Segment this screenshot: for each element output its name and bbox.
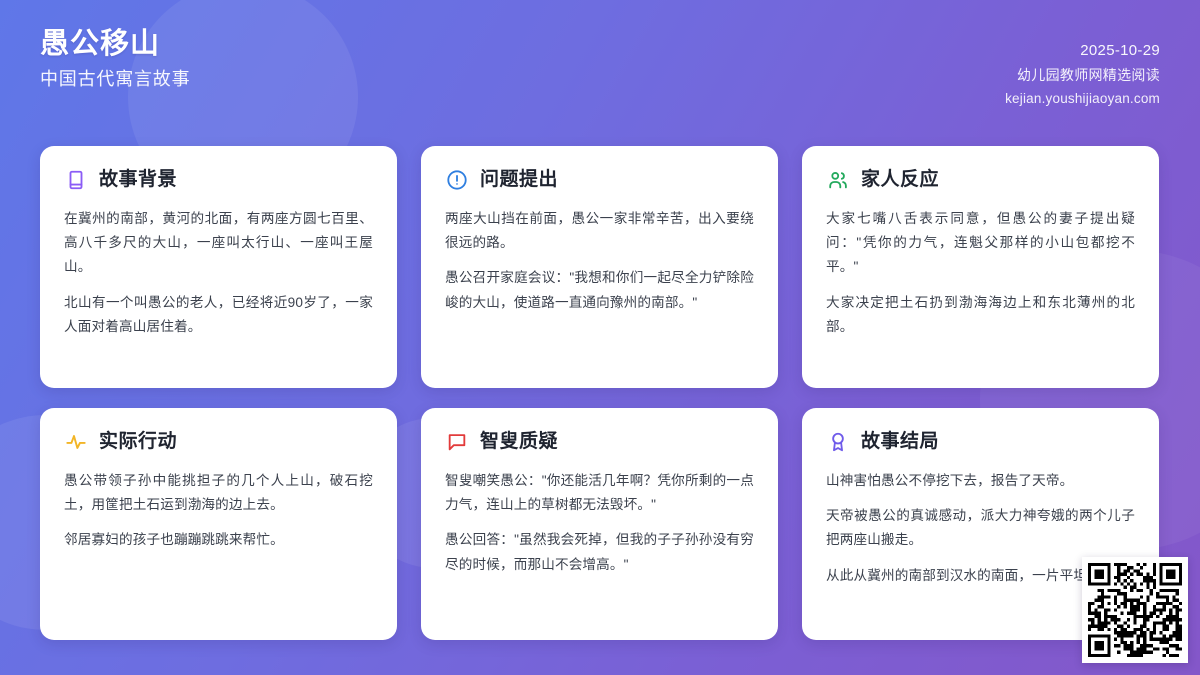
award-icon (826, 430, 850, 454)
card-paragraph: 愚公带领子孙中能挑担子的几个人上山，破石挖土，用筐把土石运到渤海的边上去。 (64, 469, 373, 517)
card-body: 大家七嘴八舌表示同意，但愚公的妻子提出疑问："凭你的力气，连魁父那样的小山包都挖… (826, 207, 1135, 339)
alert-circle-icon (445, 168, 469, 192)
card-header: 故事结局 (826, 430, 1135, 454)
card-title: 问题提出 (480, 169, 558, 192)
card-title: 故事背景 (99, 169, 177, 192)
card-title: 故事结局 (861, 431, 939, 454)
card-paragraph: 两座大山挡在前面，愚公一家非常辛苦，出入要绕很远的路。 (445, 207, 754, 255)
page-title: 愚公移山 (40, 28, 190, 61)
card-body: 愚公带领子孙中能挑担子的几个人上山，破石挖土，用筐把土石运到渤海的边上去。 邻居… (64, 469, 373, 553)
publish-date: 2025-10-29 (1080, 42, 1160, 59)
page-header: 愚公移山 中国古代寓言故事 2025-10-29 幼儿园教师网精选阅读 keji… (0, 0, 1200, 132)
card-body: 智叟嘲笑愚公："你还能活几年啊？凭你所剩的一点力气，连山上的草树都无法毁坏。" … (445, 469, 754, 577)
card-title: 智叟质疑 (480, 431, 558, 454)
source-url[interactable]: kejian.youshijiaoyan.com (1005, 91, 1160, 106)
card-body: 两座大山挡在前面，愚公一家非常辛苦，出入要绕很远的路。 愚公召开家庭会议："我想… (445, 207, 754, 315)
card-real-action[interactable]: 实际行动 愚公带领子孙中能挑担子的几个人上山，破石挖土，用筐把土石运到渤海的边上… (40, 408, 397, 640)
card-story-background[interactable]: 故事背景 在冀州的南部，黄河的北面，有两座方圆七百里、高八千多尺的大山，一座叫太… (40, 146, 397, 388)
card-header: 实际行动 (64, 430, 373, 454)
card-paragraph: 大家七嘴八舌表示同意，但愚公的妻子提出疑问："凭你的力气，连魁父那样的小山包都挖… (826, 207, 1135, 280)
card-paragraph: 在冀州的南部，黄河的北面，有两座方圆七百里、高八千多尺的大山，一座叫太行山、一座… (64, 207, 373, 280)
card-zhisou-doubt[interactable]: 智叟质疑 智叟嘲笑愚公："你还能活几年啊？凭你所剩的一点力气，连山上的草树都无法… (421, 408, 778, 640)
qr-code[interactable] (1082, 557, 1188, 663)
card-header: 问题提出 (445, 168, 754, 192)
card-paragraph: 山神害怕愚公不停挖下去，报告了天帝。 (826, 469, 1135, 493)
card-body: 在冀州的南部，黄河的北面，有两座方圆七百里、高八千多尺的大山，一座叫太行山、一座… (64, 207, 373, 339)
card-paragraph: 邻居寡妇的孩子也蹦蹦跳跳来帮忙。 (64, 528, 373, 552)
message-icon (445, 430, 469, 454)
header-meta-group: 2025-10-29 幼儿园教师网精选阅读 kejian.youshijiaoy… (1005, 28, 1160, 106)
page-subtitle: 中国古代寓言故事 (40, 69, 190, 91)
slide-canvas: 愚公移山 中国古代寓言故事 2025-10-29 幼儿园教师网精选阅读 keji… (0, 0, 1200, 675)
card-header: 故事背景 (64, 168, 373, 192)
activity-icon (64, 430, 88, 454)
card-header: 智叟质疑 (445, 430, 754, 454)
book-icon (64, 168, 88, 192)
card-paragraph: 愚公回答："虽然我会死掉，但我的子子孙孙没有穷尽的时候，而那山不会增高。" (445, 528, 754, 576)
source-label: 幼儿园教师网精选阅读 (1017, 65, 1160, 85)
card-family-reaction[interactable]: 家人反应 大家七嘴八舌表示同意，但愚公的妻子提出疑问："凭你的力气，连魁父那样的… (802, 146, 1159, 388)
card-paragraph: 大家决定把土石扔到渤海海边上和东北薄州的北部。 (826, 291, 1135, 339)
card-title: 实际行动 (99, 431, 177, 454)
card-paragraph: 智叟嘲笑愚公："你还能活几年啊？凭你所剩的一点力气，连山上的草树都无法毁坏。" (445, 469, 754, 517)
card-problem-statement[interactable]: 问题提出 两座大山挡在前面，愚公一家非常辛苦，出入要绕很远的路。 愚公召开家庭会… (421, 146, 778, 388)
card-header: 家人反应 (826, 168, 1135, 192)
qr-code-image (1088, 563, 1182, 657)
card-title: 家人反应 (861, 169, 939, 192)
card-paragraph: 愚公召开家庭会议："我想和你们一起尽全力铲除险峻的大山，使道路一直通向豫州的南部… (445, 266, 754, 314)
card-paragraph: 北山有一个叫愚公的老人，已经将近90岁了，一家人面对着高山居住着。 (64, 291, 373, 339)
header-title-group: 愚公移山 中国古代寓言故事 (40, 28, 190, 91)
card-paragraph: 天帝被愚公的真诚感动，派大力神夸娥的两个儿子把两座山搬走。 (826, 504, 1135, 552)
users-icon (826, 168, 850, 192)
card-grid: 故事背景 在冀州的南部，黄河的北面，有两座方圆七百里、高八千多尺的大山，一座叫太… (40, 146, 1160, 640)
